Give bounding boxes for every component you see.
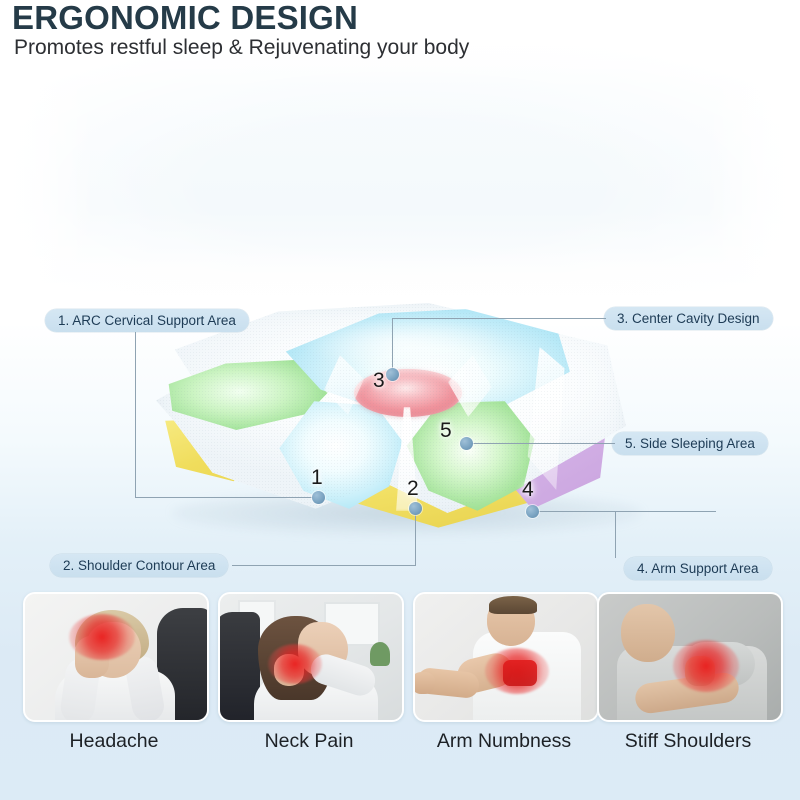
man-hair <box>489 596 537 614</box>
callout-connector-5-horizontal <box>467 443 615 444</box>
bald-head <box>621 604 675 662</box>
callout-number-1: 1 <box>311 466 323 490</box>
potted-plant <box>370 642 390 666</box>
pain-highlight-shoulder <box>673 640 739 692</box>
callout-number-2: 2 <box>407 477 419 501</box>
callout-connector-4-vertical <box>615 511 616 558</box>
callout-dot-4[interactable] <box>526 505 539 518</box>
stiff-shoulders-photo <box>599 594 781 720</box>
symptom-label-headache: Headache <box>23 730 205 753</box>
arm-numbness-photo <box>415 594 597 720</box>
callout-pill-1[interactable]: 1. ARC Cervical Support Area <box>45 309 249 332</box>
man-hand <box>415 672 435 694</box>
callout-connector-2-horizontal <box>232 565 416 566</box>
callout-number-5: 5 <box>440 419 452 443</box>
symptom-card-arm-numbness[interactable] <box>413 592 599 722</box>
callout-number-3: 3 <box>373 369 385 393</box>
symptom-card-stiff-shoulders[interactable] <box>597 592 783 722</box>
callout-pill-3[interactable]: 3. Center Cavity Design <box>604 307 773 330</box>
pain-highlight-neck <box>268 644 322 684</box>
header: ERGONOMIC DESIGN Promotes restful sleep … <box>0 0 800 66</box>
callout-connector-3-horizontal <box>392 318 606 319</box>
symptom-card-neck-pain[interactable] <box>218 592 404 722</box>
callout-dot-1[interactable] <box>312 491 325 504</box>
callout-pill-5[interactable]: 5. Side Sleeping Area <box>612 432 768 455</box>
infographic-page: ERGONOMIC DESIGN Promotes restful sleep … <box>0 0 800 800</box>
callout-connector-3-vertical <box>392 318 393 373</box>
callout-connector-1-vertical <box>135 332 136 498</box>
headache-photo <box>25 594 207 720</box>
symptom-cards: Headache Neck Pain <box>0 592 800 800</box>
callout-dot-3[interactable] <box>386 368 399 381</box>
page-subtitle: Promotes restful sleep & Rejuvenating yo… <box>14 36 469 60</box>
symptom-label-stiff-shoulders: Stiff Shoulders <box>597 730 779 753</box>
callout-connector-4-horizontal <box>536 511 716 512</box>
callout-pill-4[interactable]: 4. Arm Support Area <box>624 557 772 580</box>
pain-hand-overlay <box>503 660 537 686</box>
pain-highlight-head <box>69 614 135 660</box>
callout-number-4: 4 <box>522 478 534 502</box>
symptom-label-neck-pain: Neck Pain <box>218 730 400 753</box>
callout-pill-2[interactable]: 2. Shoulder Contour Area <box>50 554 228 577</box>
symptom-label-arm-numbness: Arm Numbness <box>413 730 595 753</box>
callout-connector-1-horizontal <box>135 497 317 498</box>
symptom-card-headache[interactable] <box>23 592 209 722</box>
neck-pain-photo <box>220 594 402 720</box>
callout-connector-2-vertical <box>415 509 416 566</box>
page-title: ERGONOMIC DESIGN <box>12 1 358 35</box>
callout-dot-5[interactable] <box>460 437 473 450</box>
callout-dot-2[interactable] <box>409 502 422 515</box>
